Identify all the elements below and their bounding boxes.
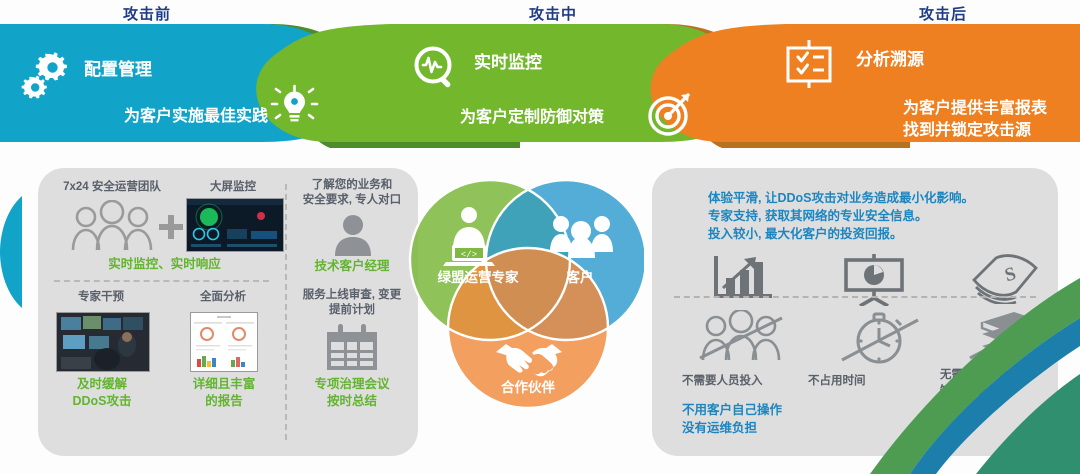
banner-main-pre: 配置管理 [84, 55, 152, 80]
banner-sub-pre: 为客户实施最佳实践 [124, 102, 268, 126]
expert-highlight-line2: DDoS攻击 [56, 393, 148, 409]
left-edge-tab [0, 196, 22, 308]
expert-highlight-line1: 及时缓解 [56, 376, 148, 392]
venn-label-partner: 合作伙伴 [501, 379, 555, 395]
report-screenshot [190, 312, 258, 372]
noc-photo [56, 312, 150, 372]
venn-label-nsfocus-expert: 绿盟运营专家 [438, 269, 519, 285]
banner-sub-during: 为客户定制防御对策 [460, 103, 604, 127]
operations-card: 7x24 安全运营团队 大屏监控 [38, 168, 418, 456]
benefit-headline-1: 体验平滑, 让DDoS攻击对业务造成最小化影响。 [708, 190, 974, 207]
banner-main-during: 实时监控 [474, 48, 542, 73]
analysis-highlight-line2: 的报告 [178, 393, 270, 409]
benefit-headline-3: 投入较小, 最大化客户的投资回报。 [708, 226, 902, 243]
analysis-caption: 全面分析 [178, 290, 268, 305]
calendar-icon [325, 324, 379, 372]
venn-label-customer: 客户 [566, 269, 594, 285]
person-icon [333, 214, 373, 256]
benefits-footer-line2: 没有运维负担 [682, 420, 757, 436]
review-caption-line1: 服务上线审查, 变更 [291, 288, 413, 303]
venn-diagram: </> 绿盟运营专家 客户 合作伙伴 [408, 176, 644, 424]
plus-icon [158, 214, 184, 240]
analysis-highlight-line1: 详细且丰富 [178, 376, 270, 392]
banner-sub-post-line2: 找到并锁定攻击源 [903, 116, 1031, 140]
tam-caption-line1: 了解您的业务和 [296, 178, 408, 193]
review-highlight-line1: 专项治理会议 [291, 376, 413, 392]
soc-result-highlight: 实时监控、实时响应 [52, 256, 277, 272]
banner-main-post: 分析溯源 [856, 45, 924, 70]
row-divider [54, 280, 269, 282]
benefit-headline-2: 专家支持, 获取其网络的专业安全信息。 [708, 208, 927, 225]
people-group-icon [66, 200, 158, 252]
banner-sub-post-line1: 为客户提供丰富报表 [903, 94, 1047, 118]
tam-highlight: 技术客户经理 [296, 258, 408, 274]
big-screen-caption: 大屏监控 [188, 180, 278, 195]
expert-caption: 专家干预 [56, 290, 146, 305]
column-divider [285, 184, 287, 440]
people-group-white-icon [550, 216, 613, 258]
svg-text:</>: </> [461, 250, 477, 260]
review-highlight-line2: 按时总结 [291, 393, 413, 409]
corner-swoosh-decoration [750, 254, 1080, 474]
dashboard-screenshot [186, 198, 284, 252]
infographic-canvas: 攻击前 攻击中 攻击后 [0, 0, 1080, 474]
review-caption-line2: 提前计划 [291, 303, 413, 318]
soc-team-caption: 7x24 安全运营团队 [52, 180, 172, 195]
tam-caption-line2: 安全要求, 专人对口 [296, 193, 408, 208]
